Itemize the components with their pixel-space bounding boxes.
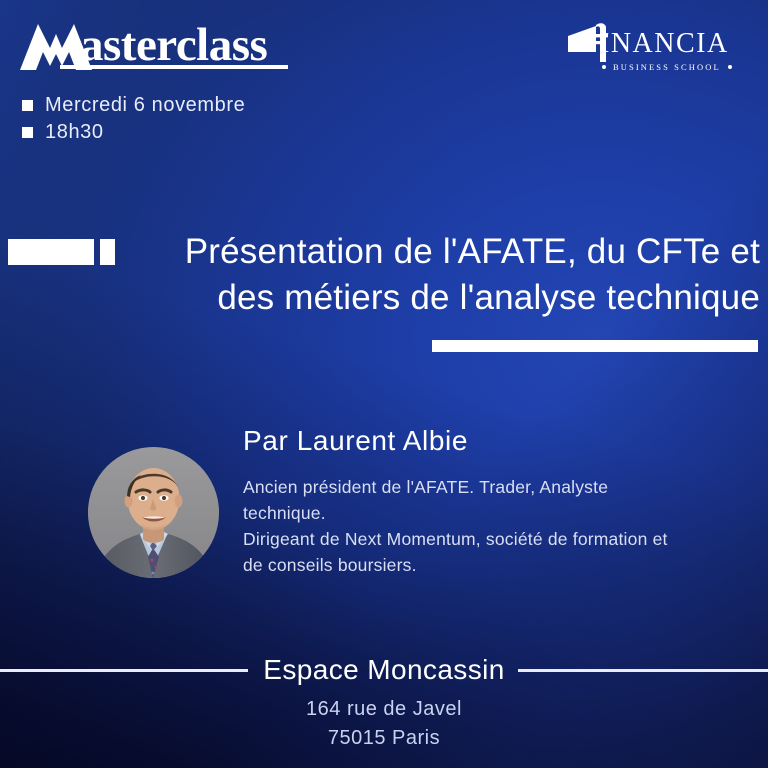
financia-logo: INANCIA BUSINESS SCHOOL — [566, 22, 734, 80]
financia-logo-subtitle: BUSINESS SCHOOL — [602, 62, 732, 72]
dot-icon — [602, 65, 606, 69]
masterclass-underline — [60, 65, 288, 69]
speaker-bio-line-4: de conseils boursiers. — [243, 552, 761, 578]
title-accent-bar-short — [100, 239, 115, 265]
title-accent-bar-long — [8, 239, 94, 265]
event-date-label: Mercredi 6 novembre — [45, 94, 245, 117]
venue-name: Espace Moncassin — [0, 654, 768, 686]
venue-address: 164 rue de Javel 75015 Paris — [0, 695, 768, 753]
speaker-bio-line-3: Dirigeant de Next Momentum, société de f… — [243, 526, 761, 552]
page-title-line-2: des métiers de l'analyse technique — [118, 275, 760, 321]
masterclass-wordmark: asterclass — [18, 16, 318, 76]
financia-logo-subtitle-text: BUSINESS SCHOOL — [613, 62, 721, 72]
square-bullet-icon — [22, 127, 33, 138]
event-time-label: 18h30 — [45, 121, 104, 144]
square-bullet-icon — [22, 100, 33, 111]
page-title-line-1: Présentation de l'AFATE, du CFTe et — [185, 232, 760, 271]
speaker-bio: Ancien président de l'AFATE. Trader, Ana… — [243, 474, 761, 578]
event-meta-time: 18h30 — [22, 119, 442, 146]
speaker-bio-line-1: Ancien président de l'AFATE. Trader, Ana… — [243, 474, 761, 500]
page-title: Présentation de l'AFATE, du CFTe et des … — [118, 229, 760, 321]
speaker-portrait — [88, 447, 219, 578]
masterclass-text: asterclass — [80, 22, 267, 69]
venue-address-line-2: 75015 Paris — [0, 724, 768, 753]
title-underline-bar — [432, 340, 758, 352]
financia-logo-name: INANCIA — [600, 30, 729, 58]
masterclass-poster: asterclass Mercredi 6 novembre 18h30 INA… — [0, 0, 768, 768]
event-meta-date: Mercredi 6 novembre — [22, 92, 442, 119]
dot-icon — [728, 65, 732, 69]
venue-address-line-1: 164 rue de Javel — [0, 695, 768, 724]
event-meta-list: Mercredi 6 novembre 18h30 — [22, 92, 442, 146]
speaker-bio-line-2: technique. — [243, 500, 761, 526]
speaker-name: Par Laurent Albie — [243, 425, 468, 457]
